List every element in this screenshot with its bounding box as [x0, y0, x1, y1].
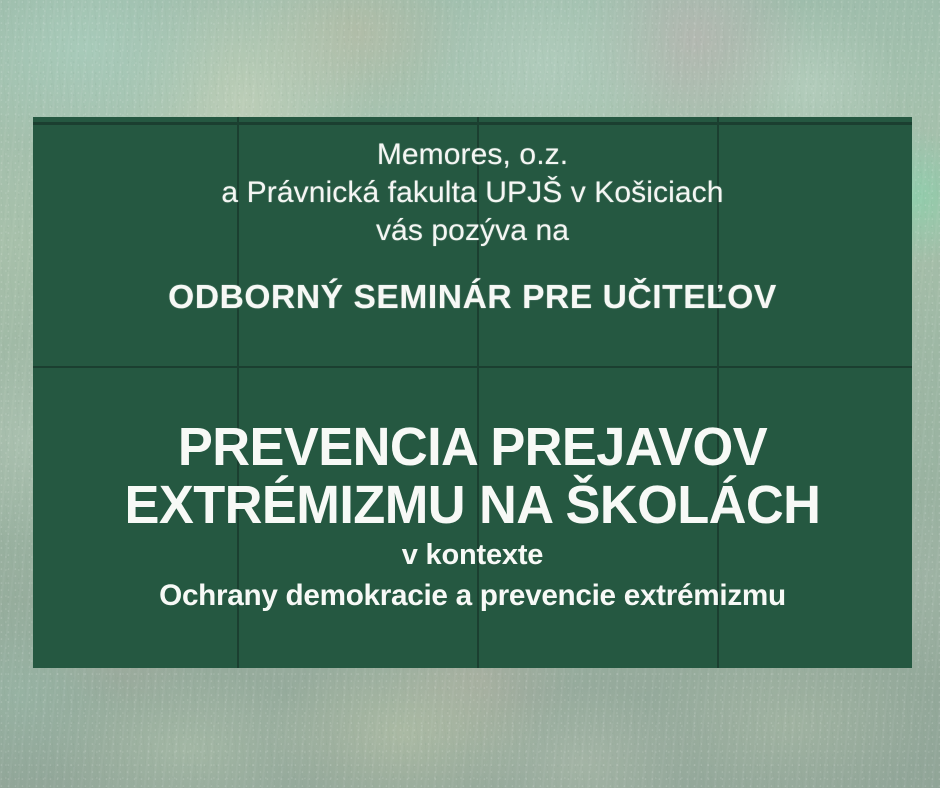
seminar-heading: ODBORNÝ SEMINÁR PRE UČITEĽOV	[33, 278, 912, 318]
panel-text-content: Memores, o.z. a Právnická fakulta UPJŠ v…	[33, 117, 912, 668]
intro-line-organizer: Memores, o.z.	[33, 136, 912, 174]
intro-line-faculty: a Právnická fakulta UPJŠ v Košiciach	[33, 174, 912, 212]
subtitle-context-label: v kontexte	[33, 538, 912, 572]
subtitle-context-value: Ochrany demokracie a prevencie extrémizm…	[37, 578, 907, 614]
main-title-line-2: EXTRÉMIZMU NA ŠKOLÁCH	[46, 476, 899, 534]
poster-canvas: Memores, o.z. a Právnická fakulta UPJŠ v…	[0, 0, 940, 788]
intro-block: Memores, o.z. a Právnická fakulta UPJŠ v…	[33, 136, 912, 250]
main-title-block: PREVENCIA PREJAVOV EXTRÉMIZMU NA ŠKOLÁCH	[46, 418, 899, 534]
intro-line-invitation: vás pozýva na	[33, 212, 912, 250]
green-content-panel: Memores, o.z. a Právnická fakulta UPJŠ v…	[33, 117, 912, 668]
main-title-line-1: PREVENCIA PREJAVOV	[46, 418, 899, 476]
